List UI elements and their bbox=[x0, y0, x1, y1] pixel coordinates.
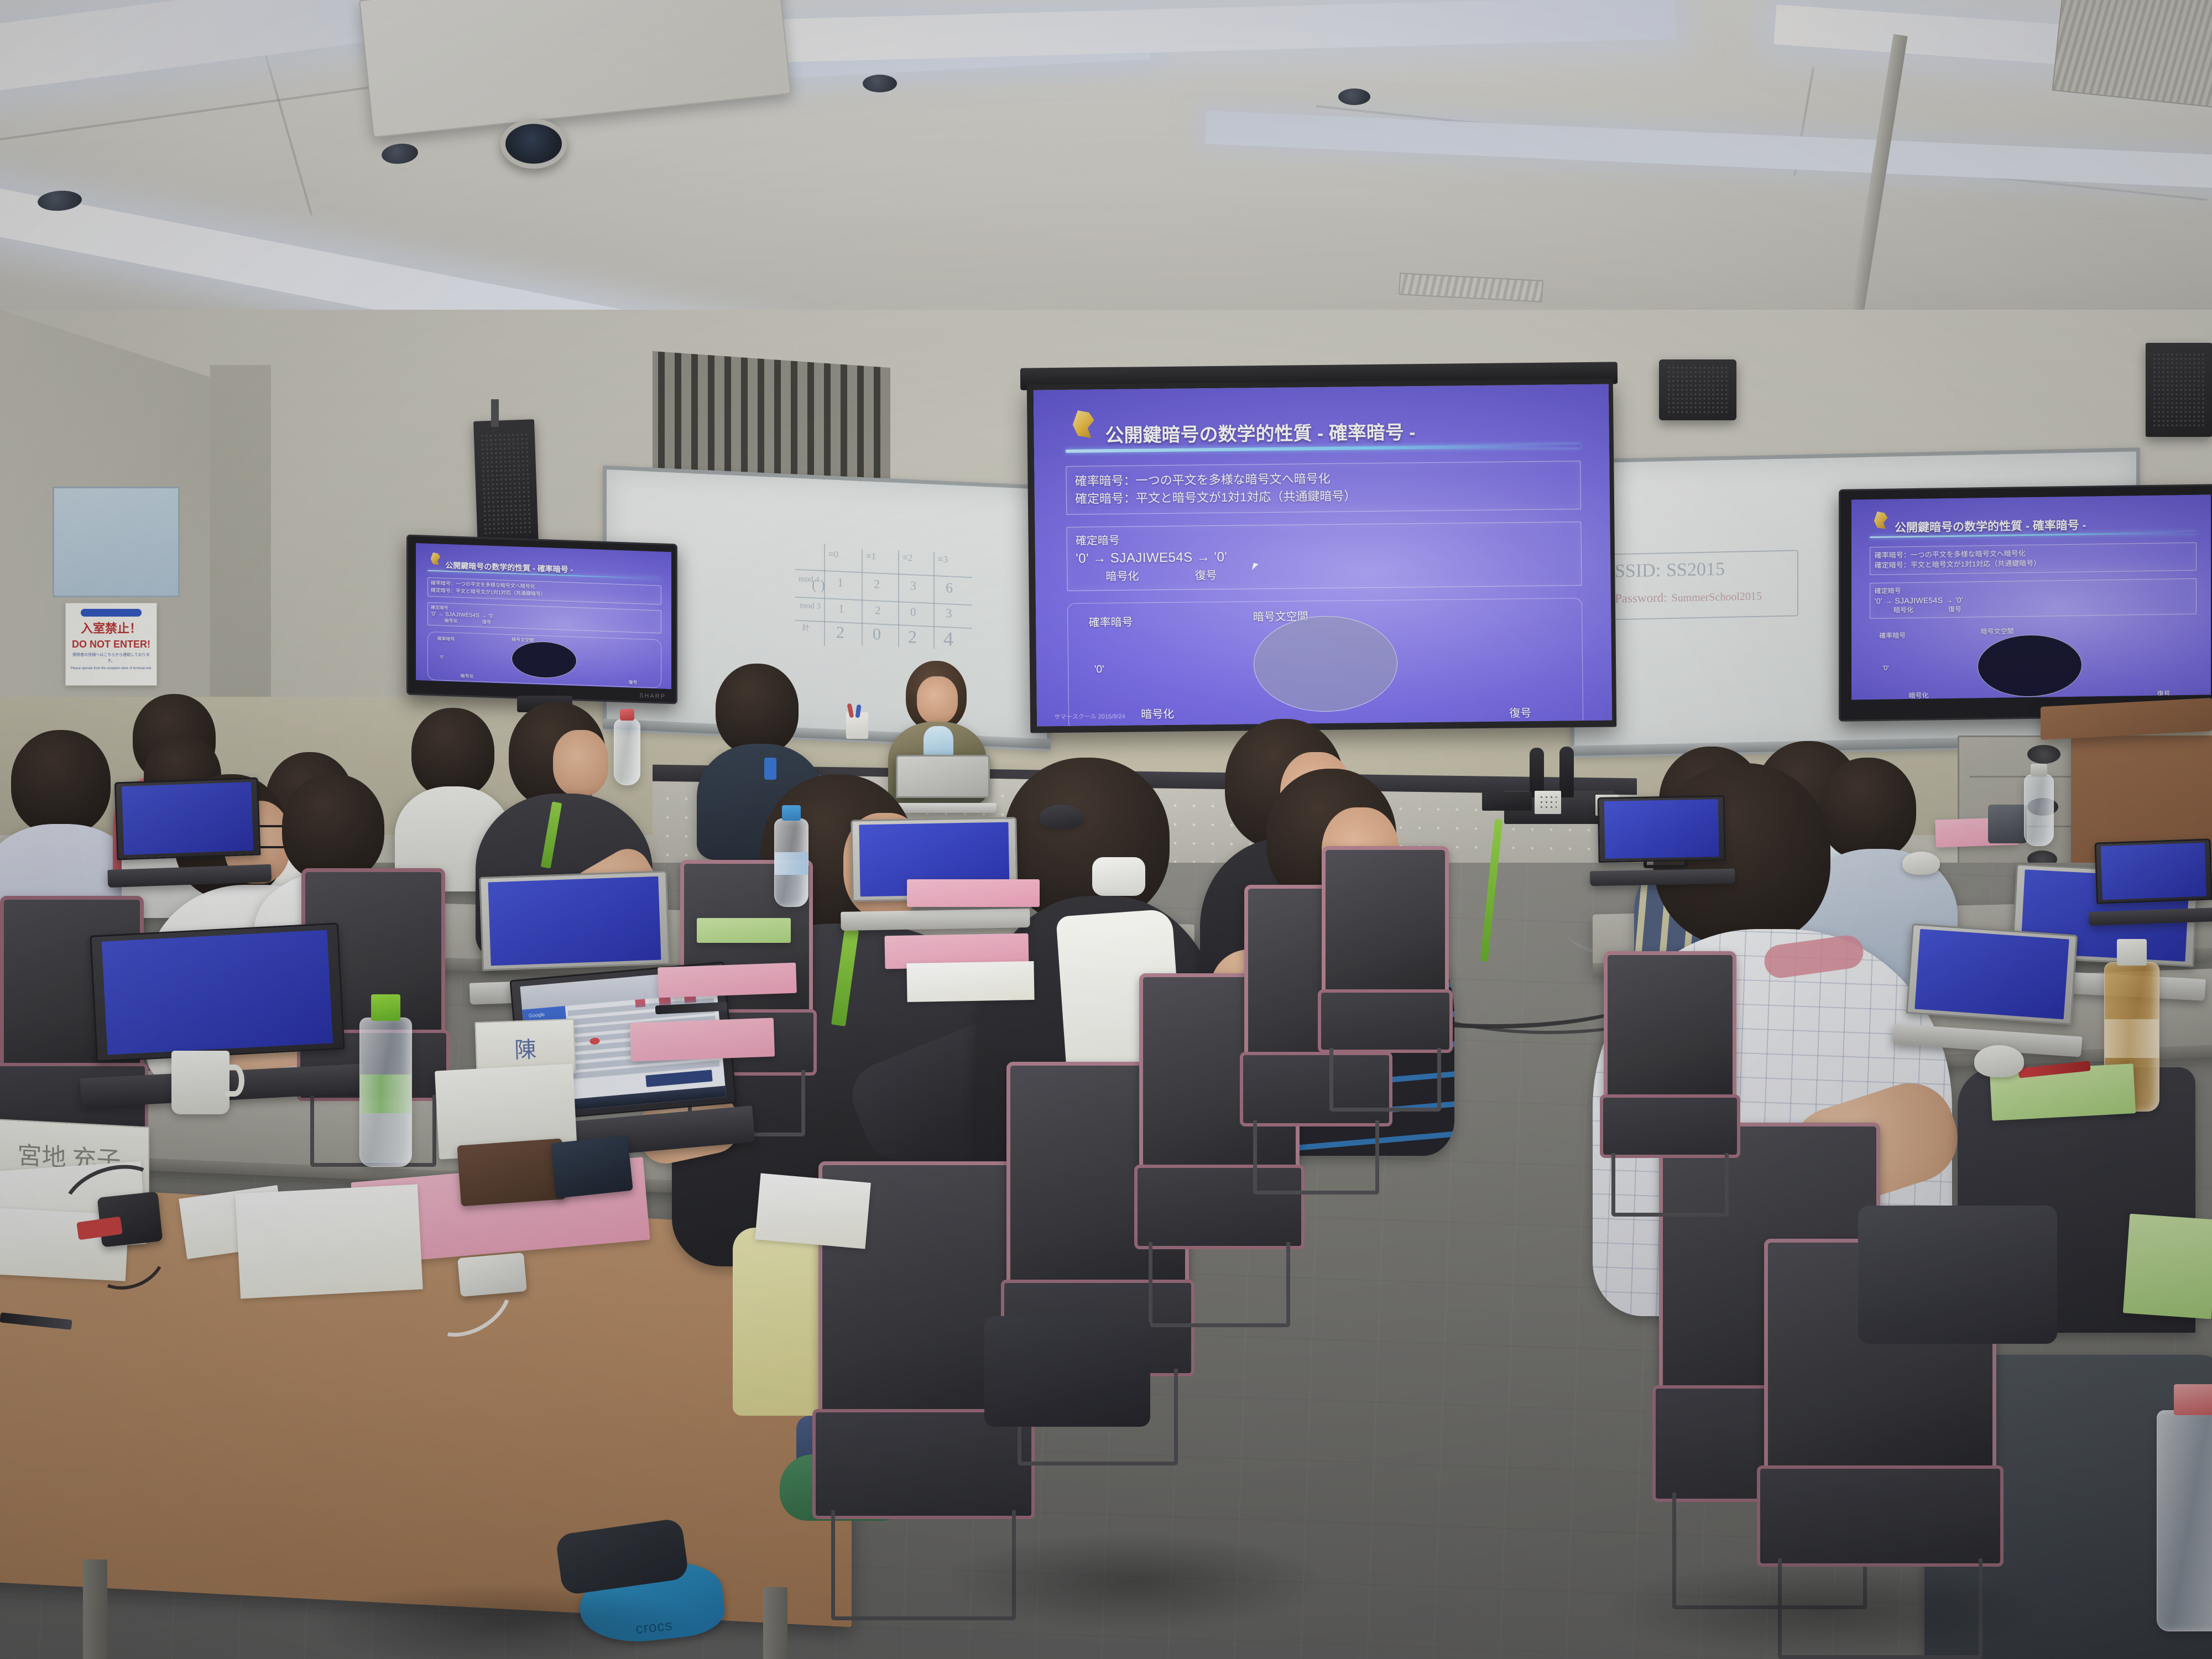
slide-mirror-right: 公開鍵暗号の数学的性質 - 確率暗号 - 確率暗号：一つの平文を多様な暗号文へ暗… bbox=[1851, 494, 2211, 700]
sign-jp-subtext: 関係者の皆様へはこちらから連絡しております。 bbox=[69, 653, 153, 664]
slide-definition-box: 確率暗号：一つの平文を多様な暗号文へ暗号化 確定暗号：平文と暗号文が1対1対応（… bbox=[427, 577, 661, 605]
slide-definition-box: 確率暗号：一つの平文を多様な暗号文へ暗号化 確定暗号：平文と暗号文が1対1対応（… bbox=[1066, 461, 1581, 515]
slide-projected: 公開鍵暗号の数学的性質 - 確率暗号 - 確率暗号：一つの平文を多様な暗号文へ暗… bbox=[1034, 384, 1612, 727]
paper-sheet bbox=[755, 1173, 871, 1249]
tv-brand-label: SHARP bbox=[639, 692, 666, 700]
laptop-screen bbox=[1914, 929, 2069, 1019]
bottle-cap bbox=[2174, 1384, 2212, 1415]
floor-shadow bbox=[1604, 1559, 2046, 1659]
green-notebook[interactable] bbox=[2123, 1214, 2212, 1319]
wb-r0c3: 6 bbox=[946, 578, 953, 598]
person-head bbox=[11, 730, 111, 835]
desk-object-box bbox=[1988, 805, 2027, 843]
ssid-value: SS2015 bbox=[1666, 557, 1725, 583]
wb-col-h1: ≡1 bbox=[866, 550, 876, 564]
wallet[interactable] bbox=[457, 1139, 566, 1207]
laptop-screen bbox=[122, 782, 253, 855]
slide-deterministic-box: 確定暗号 '0' → SJAJIWE54S → '0' 暗号化 復号 bbox=[1067, 521, 1582, 591]
slide-prob-encrypt-label: 暗号化 bbox=[1908, 691, 1928, 700]
face-mask bbox=[1092, 857, 1145, 896]
person-head bbox=[716, 664, 799, 755]
laptop-lid bbox=[1598, 795, 1726, 863]
slide-title: 公開鍵暗号の数学的性質 - 確率暗号 - bbox=[1105, 421, 1580, 446]
slide-det-encrypt-label: 暗号化 bbox=[1893, 606, 1913, 614]
slide-det-decrypt-label: 復号 bbox=[1948, 605, 1961, 613]
key-icon bbox=[1870, 510, 1891, 535]
av-device-tray bbox=[1482, 792, 1532, 811]
wb-r0c2: 3 bbox=[910, 577, 916, 594]
ciphertext-space-ellipse bbox=[512, 640, 577, 679]
key-icon bbox=[427, 551, 442, 570]
password-label: Password: bbox=[1615, 589, 1667, 607]
slide-prob-encrypt-label: 暗号化 bbox=[1141, 705, 1174, 722]
slide-definition-box: 確率暗号：一つの平文を多様な暗号文へ暗号化 確定暗号：平文と暗号文が1対1対応（… bbox=[1870, 542, 2197, 575]
do-not-enter-sign: 入室禁止！ DO NOT ENTER! 関係者の皆様へはこちらから連絡しておりま… bbox=[65, 603, 157, 686]
sign-blue-bar bbox=[81, 609, 141, 617]
smartphone[interactable] bbox=[550, 1135, 633, 1198]
wb-col-h2: ≡2 bbox=[902, 552, 912, 565]
laptop-screen bbox=[1604, 800, 1719, 859]
tv-left-screen: 公開鍵暗号の数学的性質 - 確率暗号 - 確率暗号：一つの平文を多様な暗号文へ暗… bbox=[416, 543, 671, 689]
laptop-lid bbox=[2094, 838, 2212, 904]
bottle-cap bbox=[371, 994, 400, 1021]
slide-det-decrypt-label: 復号 bbox=[482, 619, 491, 625]
laptop[interactable] bbox=[1598, 795, 1726, 886]
ceiling-speaker-icon bbox=[1338, 88, 1370, 105]
slide-prob-encrypt-label: 暗号化 bbox=[461, 673, 474, 680]
wall-speaker bbox=[1659, 359, 1736, 420]
wb-r2c2: 2 bbox=[908, 625, 917, 649]
wb-row1-label: mod 3 bbox=[800, 600, 821, 612]
laptop-lid bbox=[479, 870, 670, 971]
shelf-hole-icon bbox=[2027, 745, 2060, 764]
laptop-lid bbox=[114, 778, 261, 860]
slide-mirror-left: 公開鍵暗号の数学的性質 - 確率暗号 - 確率暗号：一つの平文を多様な暗号文へ暗… bbox=[416, 543, 671, 689]
lecturer-scarf bbox=[924, 726, 953, 759]
wall-speaker bbox=[473, 419, 539, 549]
slide-plaintext-zero: '0' bbox=[1882, 664, 1888, 672]
lecturer-face bbox=[917, 676, 958, 724]
bottle-cap bbox=[620, 709, 634, 721]
slide-title: 公開鍵暗号の数学的性質 - 確率暗号 - bbox=[1895, 518, 2197, 534]
slide-prob-decrypt-label: 復号 bbox=[628, 679, 637, 686]
wireless-microphone bbox=[1559, 747, 1574, 797]
water-bottle[interactable] bbox=[774, 818, 808, 907]
tv-right-screen: 公開鍵暗号の数学的性質 - 確率暗号 - 確率暗号：一つの平文を多様な暗号文へ暗… bbox=[1851, 494, 2211, 700]
slide-det-decrypt-label: 復号 bbox=[1194, 570, 1217, 582]
speaker-mesh-icon bbox=[480, 432, 532, 536]
coffee-mug[interactable] bbox=[171, 1051, 229, 1114]
slide-plaintext-zero: '0' bbox=[440, 654, 444, 659]
wb-r1c2: 0 bbox=[910, 604, 916, 620]
slide-prob-decrypt-label: 復号 bbox=[2157, 688, 2171, 698]
lecture-room-photo: SONY 入室禁止！ DO NOT ENTER! 関係者の皆様へはこちらから連絡… bbox=[0, 0, 2212, 1659]
bottle-cap bbox=[2117, 939, 2147, 966]
chair[interactable] bbox=[1322, 846, 1449, 1112]
ssid-label: SSID: bbox=[1615, 558, 1661, 585]
speaker-mount bbox=[491, 399, 499, 427]
slide-det-encrypt-label: 暗号化 bbox=[444, 618, 457, 624]
paper-stack bbox=[235, 1184, 422, 1298]
wireless-microphone bbox=[1530, 748, 1544, 797]
slide-probabilistic-box: 確率暗号 暗号文空間 '0' 暗号化 復号 bbox=[427, 631, 661, 688]
water-bottle[interactable] bbox=[2024, 774, 2054, 846]
slide-prob-heading: 確率暗号 bbox=[1879, 630, 1906, 640]
laptop[interactable] bbox=[851, 817, 1018, 930]
slide-probabilistic-box: 確率暗号 暗号文空間 '0' 暗号化 復号 bbox=[1870, 622, 2197, 700]
ciphertext-space-ellipse bbox=[1253, 615, 1398, 713]
sign-en-subtext: Please operate from the reception desk o… bbox=[70, 666, 152, 671]
wall-poster bbox=[53, 487, 180, 597]
laptop[interactable] bbox=[1904, 924, 2078, 1056]
projection-screen-surface: 公開鍵暗号の数学的性質 - 確率暗号 - 確率暗号：一つの平文を多様な暗号文へ暗… bbox=[1034, 384, 1612, 727]
person-head bbox=[282, 774, 384, 882]
laptop-screen bbox=[102, 930, 333, 1055]
whiteboard-bracket-note: ( ) bbox=[812, 575, 825, 594]
wall-speaker bbox=[2146, 343, 2212, 437]
bag bbox=[1858, 1206, 2057, 1344]
floor-shadow bbox=[940, 1532, 1327, 1631]
password-value: SummerSchool2015 bbox=[1672, 589, 1762, 606]
laptop-base bbox=[841, 909, 1030, 931]
mouse-cursor-icon bbox=[1251, 563, 1260, 572]
wb-r2c3: 4 bbox=[943, 625, 953, 653]
sign-jp-text: 入室禁止！ bbox=[81, 619, 142, 637]
wb-row2-label: 計 bbox=[802, 623, 810, 634]
pink-folder[interactable] bbox=[658, 963, 797, 998]
bottle-label bbox=[360, 1074, 411, 1113]
ceiling-air-vent bbox=[2052, 0, 2212, 108]
mouse[interactable] bbox=[1040, 805, 1084, 829]
ceiling-speaker-icon bbox=[863, 75, 897, 92]
bottle-cap bbox=[782, 805, 801, 821]
wb-r0c1: 2 bbox=[874, 576, 880, 592]
laptop-screen bbox=[488, 876, 661, 966]
water-bottle[interactable] bbox=[359, 1018, 412, 1167]
laptop-lid bbox=[90, 922, 345, 1062]
sign-en-text: DO NOT ENTER! bbox=[72, 639, 150, 650]
water-bottle[interactable] bbox=[614, 719, 640, 785]
water-bottle-foreground[interactable] bbox=[2157, 1410, 2212, 1631]
chair[interactable] bbox=[1604, 951, 1736, 1217]
slide-footer: サマースクール 2015/8/24 bbox=[1054, 712, 1125, 721]
wb-r2c1: 0 bbox=[873, 623, 881, 646]
laptop-base bbox=[1590, 869, 1735, 886]
pink-folder[interactable] bbox=[630, 1018, 775, 1061]
slide-plaintext-zero: '0' bbox=[1094, 664, 1104, 676]
tv-monitor-right: 公開鍵暗号の数学的性質 - 確率暗号 - 確率暗号：一つの平文を多様な暗号文へ暗… bbox=[1839, 484, 2212, 722]
desk-leg bbox=[83, 1559, 107, 1659]
laptop-screen bbox=[2101, 843, 2206, 900]
wb-r1c3: 3 bbox=[946, 604, 952, 622]
bag bbox=[984, 1316, 1150, 1427]
slide-deterministic-box: 確定暗号 '0' → SJAJIWE54S → '0' 暗号化 復号 bbox=[427, 602, 661, 634]
slide-prob-decrypt-label: 復号 bbox=[1509, 704, 1531, 720]
wb-r1c1: 2 bbox=[875, 602, 881, 618]
whiteboard-wifi-note: SSID: SS2015 Password: SummerSchool2015 bbox=[1615, 556, 1762, 607]
paper-sheet bbox=[906, 961, 1034, 1002]
slide-probabilistic-box: 確率暗号 暗号文空間 '0' 暗号化 復号 bbox=[1067, 598, 1583, 727]
bottle-label bbox=[775, 852, 808, 875]
wb-col-h3: ≡3 bbox=[938, 553, 948, 566]
tv-monitor-left: 公開鍵暗号の数学的性質 - 確率暗号 - 確率暗号：一つの平文を多様な暗号文へ暗… bbox=[406, 534, 677, 704]
wb-r0c0: 1 bbox=[837, 574, 843, 591]
slide-prob-heading: 確率暗号 bbox=[1088, 613, 1133, 630]
compose-window[interactable] bbox=[646, 1070, 713, 1087]
wb-col-h0: ≡0 bbox=[828, 548, 838, 561]
laptop-lid bbox=[1906, 924, 2078, 1025]
person-face bbox=[553, 730, 608, 796]
slide-prob-heading: 確率暗号 bbox=[437, 636, 455, 643]
speaker-mesh-icon bbox=[2152, 352, 2205, 427]
green-folder[interactable] bbox=[697, 918, 791, 943]
key-icon bbox=[1065, 408, 1099, 446]
wb-r1c0: 1 bbox=[838, 601, 844, 617]
desk-leg bbox=[763, 1587, 787, 1659]
whiteboard-math-table: ≡0 ≡1 ≡2 ≡3 mod 4 1 2 3 6 mod 3 1 2 0 3 … bbox=[795, 542, 972, 653]
laptop[interactable] bbox=[2094, 838, 2212, 925]
slide-deterministic-box: 確定暗号 '0' → SJAJIWE54S → '0' 暗号化 復号 bbox=[1870, 578, 2197, 618]
pink-folder[interactable] bbox=[907, 879, 1040, 907]
wb-r2c0: 2 bbox=[836, 622, 844, 644]
laptop[interactable] bbox=[114, 778, 262, 888]
slide-ciphertext-space-label: 暗号文空間 bbox=[1981, 626, 2014, 636]
ciphertext-space-ellipse bbox=[1978, 634, 2082, 698]
speaker-mesh-icon bbox=[1667, 366, 1729, 414]
bottle-cap bbox=[2031, 764, 2047, 776]
av-control-box bbox=[1535, 791, 1561, 814]
dome-camera-icon bbox=[500, 119, 567, 169]
bottle-label bbox=[2105, 1019, 2159, 1058]
mouse[interactable] bbox=[1974, 1045, 2024, 1077]
slide-det-encrypt-label: 暗号化 bbox=[1105, 571, 1139, 583]
mouse[interactable] bbox=[1902, 852, 1940, 875]
